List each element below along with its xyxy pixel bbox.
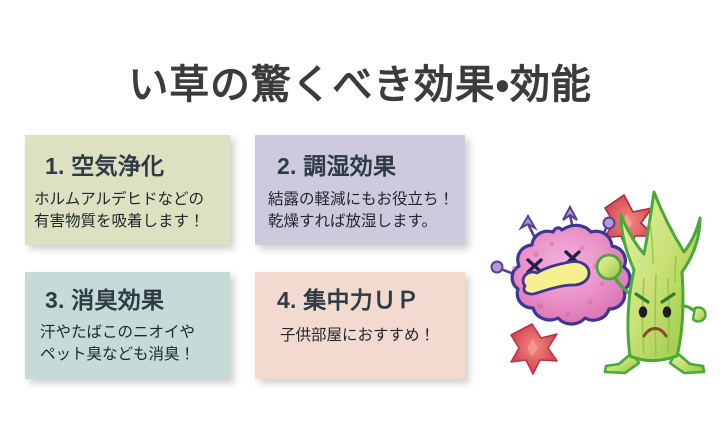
benefit-card-body-line-1: 汗やたばこのニオイや (40, 322, 230, 344)
benefit-card-concentration-up: 4. 集中力ＵＰ 子供部屋におすすめ！ (255, 272, 465, 379)
benefit-card-body-line-1: ホルムアルデヒドなどの (34, 189, 230, 211)
benefit-card-body-line-1: 結露の軽減にもお役立ち！ (268, 189, 465, 211)
benefit-card-air-purification: 1. 空気浄化 ホルムアルデヒドなどの 有害物質を吸着します！ (25, 135, 230, 245)
benefit-card-heading: 3. 消臭効果 (25, 272, 230, 312)
benefit-card-body: 汗やたばこのニオイや ペット臭なども消臭！ (25, 312, 230, 367)
benefit-card-heading: 1. 空気浄化 (25, 135, 230, 178)
benefit-card-deodorizing: 3. 消臭効果 汗やたばこのニオイや ペット臭なども消臭！ (25, 272, 230, 379)
benefit-card-body-line-1: 子供部屋におすすめ！ (280, 325, 465, 347)
benefit-card-body: 結露の軽減にもお役立ち！ 乾燥すれば放湿します。 (255, 178, 465, 234)
benefit-card-body: ホルムアルデヒドなどの 有害物質を吸着します！ (25, 178, 230, 234)
benefit-card-body: 子供部屋におすすめ！ (255, 312, 465, 347)
benefit-card-body-line-2: ペット臭なども消臭！ (40, 344, 230, 366)
benefits-card-grid: 1. 空気浄化 ホルムアルデヒドなどの 有害物質を吸着します！ 2. 調湿効果 … (25, 135, 465, 380)
illustration-igusa-vs-germ (478, 182, 714, 394)
benefit-card-body-line-2: 乾燥すれば放湿します。 (268, 211, 465, 233)
benefit-card-body-line-2: 有害物質を吸着します！ (34, 211, 230, 233)
impact-star-bottom-icon (511, 324, 557, 374)
benefit-card-heading: 4. 集中力ＵＰ (255, 272, 465, 312)
benefit-card-heading: 2. 調湿効果 (255, 135, 465, 178)
page-title: い草の驚くべき効果・効能 (0, 63, 720, 107)
benefit-card-humidity-control: 2. 調湿効果 結露の軽減にもお役立ち！ 乾燥すれば放湿します。 (255, 135, 465, 245)
